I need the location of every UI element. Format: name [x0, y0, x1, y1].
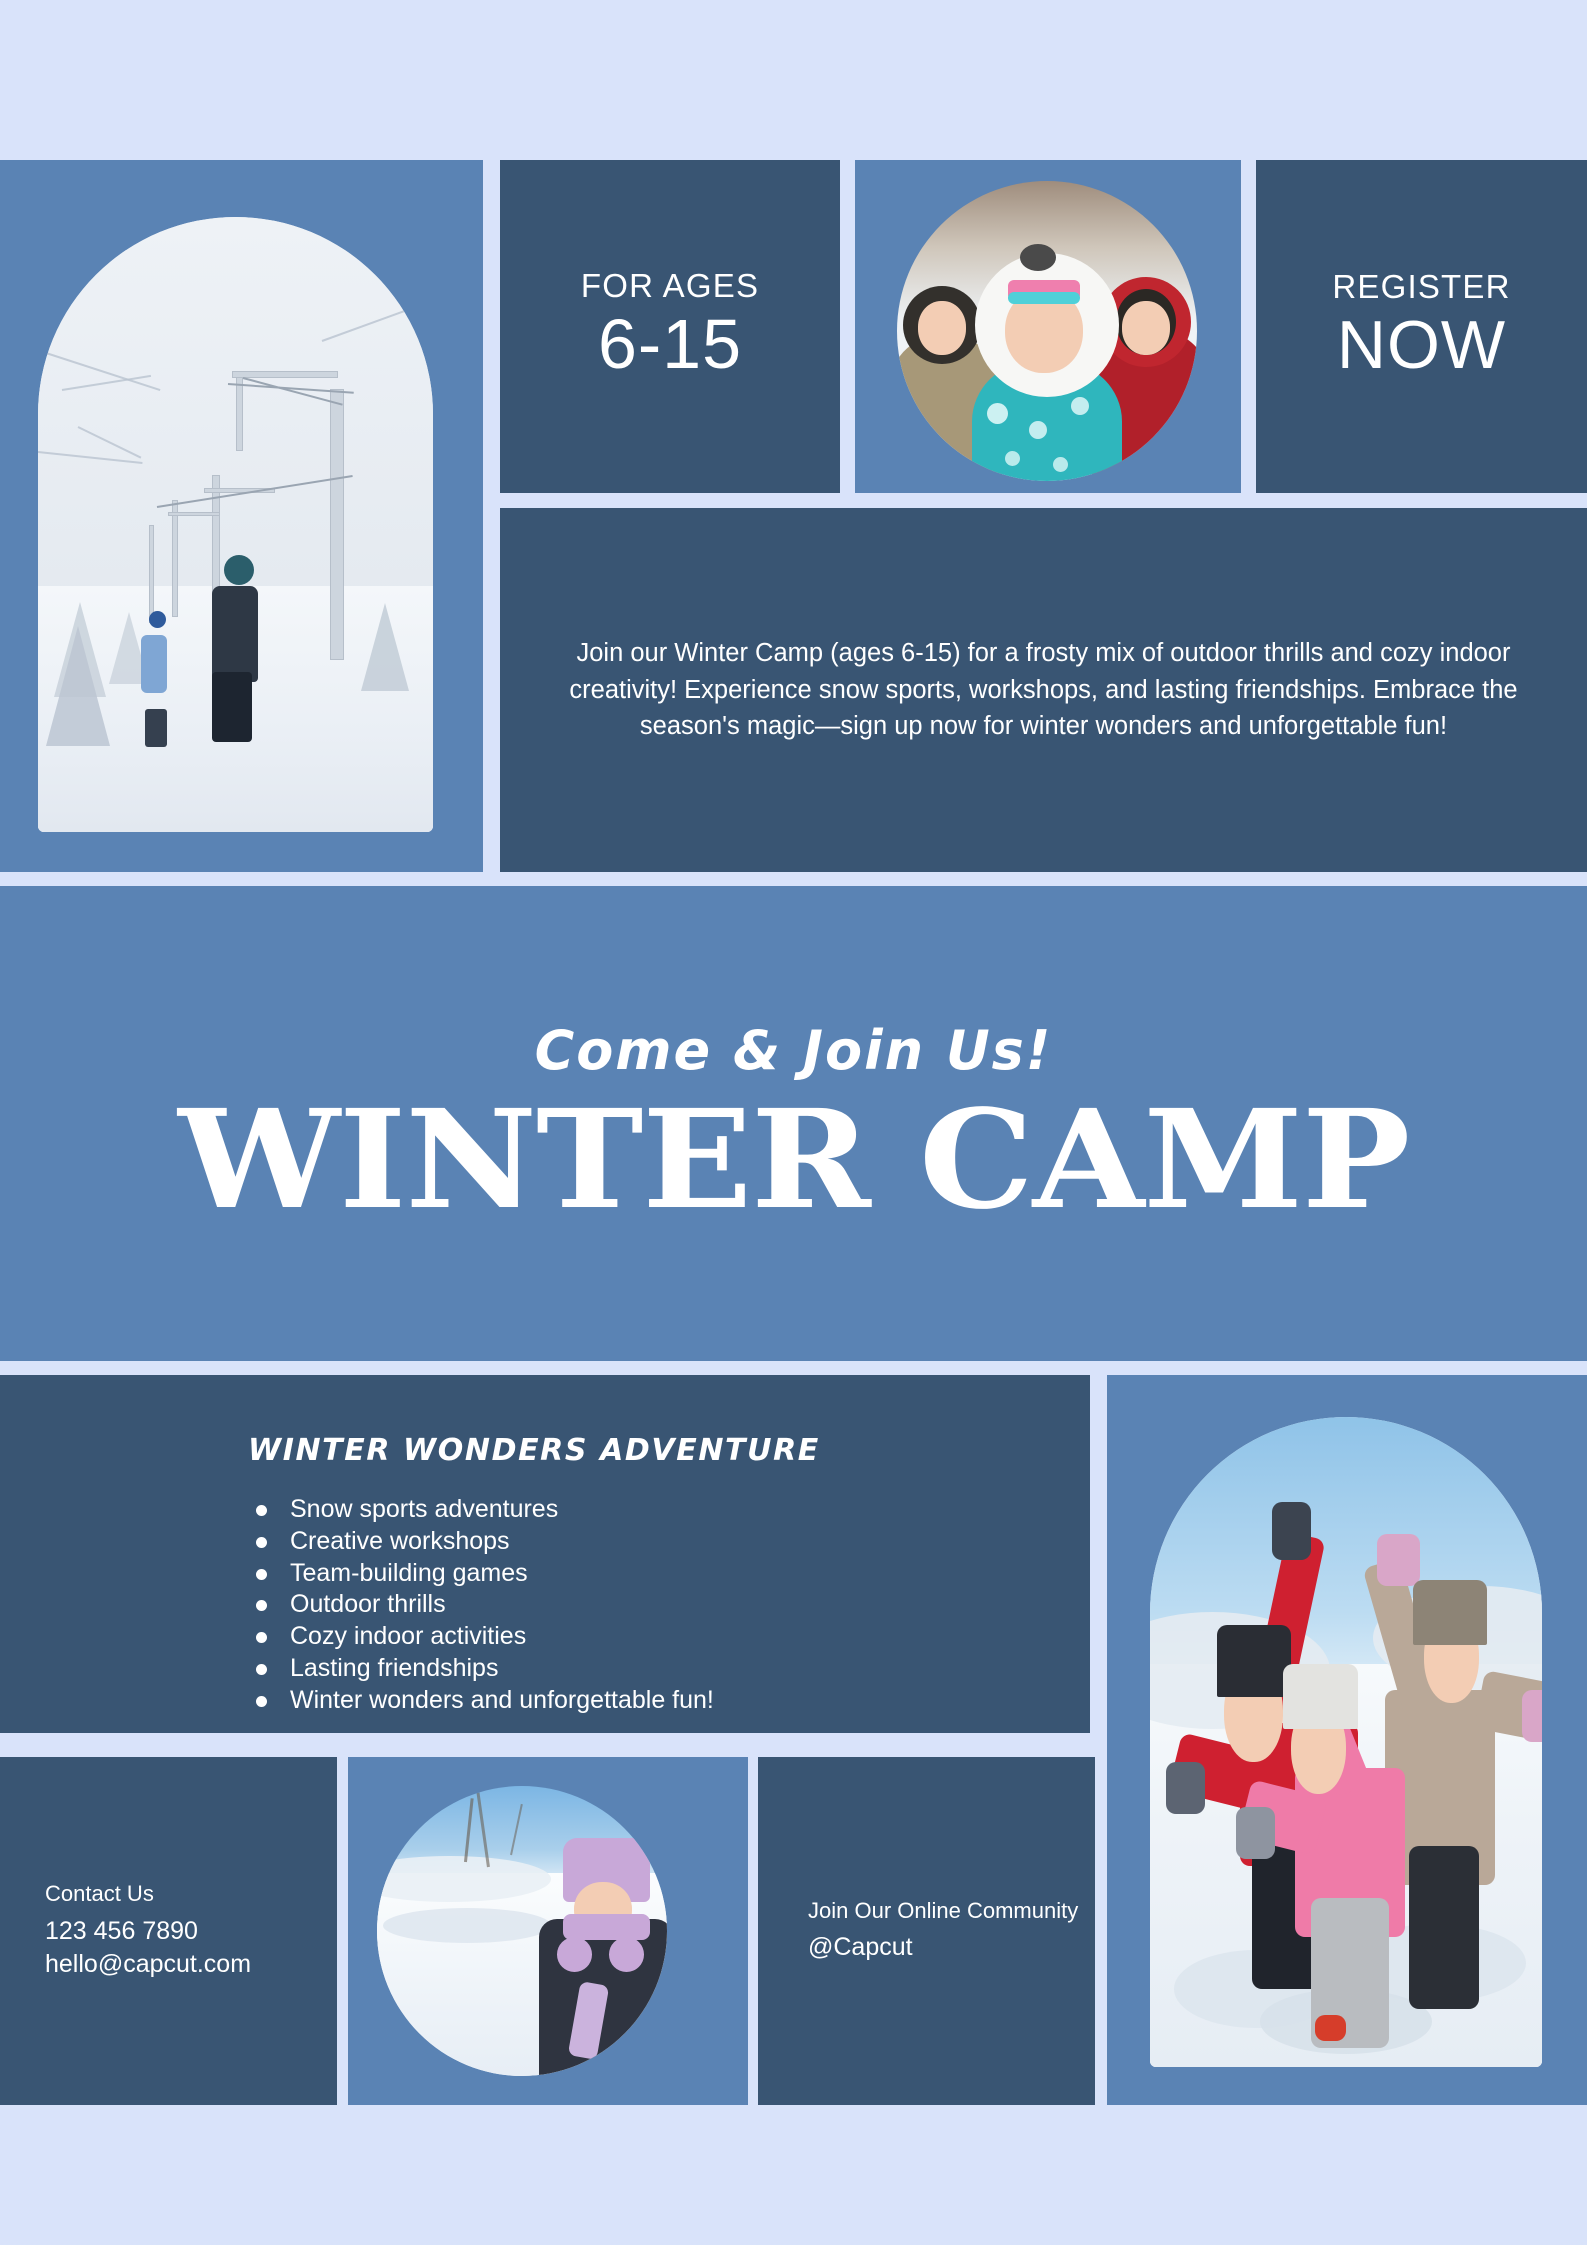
side-photo-panel — [1107, 1375, 1587, 2105]
ages-value: 6-15 — [598, 304, 742, 385]
girl-circle-photo-art — [377, 1786, 667, 2076]
features-panel: WINTER WONDERS ADVENTURE Snow sports adv… — [0, 1375, 1090, 1733]
ages-panel: FOR AGES 6-15 — [500, 160, 840, 493]
girl-circle-photo — [377, 1786, 667, 2076]
list-item: Creative workshops — [248, 1526, 1090, 1558]
features-list: Snow sports adventures Creative workshop… — [248, 1494, 1090, 1716]
main-title: WINTER CAMP — [178, 1092, 1409, 1228]
intro-paragraph: Join our Winter Camp (ages 6-15) for a f… — [564, 635, 1524, 745]
kids-circle-panel — [855, 160, 1241, 493]
ski-lift-photo-art — [38, 217, 433, 832]
list-item: Winter wonders and unforgettable fun! — [248, 1685, 1090, 1717]
contact-phone[interactable]: 123 456 7890 — [45, 1915, 337, 1949]
list-item: Team-building games — [248, 1558, 1090, 1590]
kids-circle-photo-art — [897, 181, 1197, 481]
contact-panel: Contact Us 123 456 7890 hello@capcut.com — [0, 1757, 337, 2105]
features-heading: WINTER WONDERS ADVENTURE — [248, 1433, 1090, 1468]
list-item: Lasting friendships — [248, 1653, 1090, 1685]
contact-label: Contact Us — [45, 1880, 337, 1909]
playing-kids-photo — [1150, 1417, 1542, 2067]
kids-circle-photo — [897, 181, 1197, 481]
ages-label: FOR AGES — [581, 268, 759, 304]
contact-email[interactable]: hello@capcut.com — [45, 1948, 337, 1982]
list-item: Snow sports adventures — [248, 1494, 1090, 1526]
social-panel: Join Our Online Community @Capcut — [758, 1757, 1095, 2105]
hero-photo-panel — [0, 160, 483, 872]
script-title: Come & Join Us! — [535, 1019, 1053, 1082]
ski-lift-photo — [38, 217, 433, 832]
list-item: Cozy indoor activities — [248, 1621, 1090, 1653]
winter-camp-flyer: FOR AGES 6-15 — [0, 0, 1587, 2245]
register-panel[interactable]: REGISTER NOW — [1256, 160, 1587, 493]
community-label: Join Our Online Community — [808, 1897, 1095, 1926]
register-label: REGISTER — [1332, 269, 1510, 305]
girl-circle-panel — [348, 1757, 748, 2105]
title-band: Come & Join Us! WINTER CAMP — [0, 886, 1587, 1361]
social-handle[interactable]: @Capcut — [808, 1931, 1095, 1965]
register-value: NOW — [1337, 306, 1506, 384]
intro-panel: Join our Winter Camp (ages 6-15) for a f… — [500, 508, 1587, 872]
playing-kids-photo-art — [1150, 1417, 1542, 2067]
list-item: Outdoor thrills — [248, 1589, 1090, 1621]
